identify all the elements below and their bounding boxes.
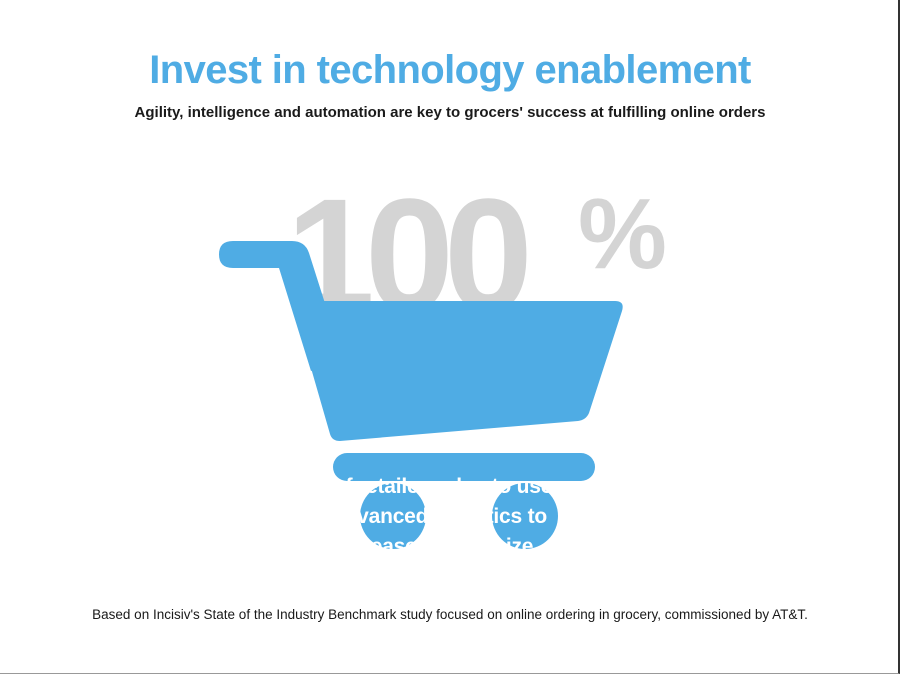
page-subtitle: Agility, intelligence and automation are…: [0, 104, 900, 123]
page-title: Invest in technology enablement: [0, 48, 900, 92]
graphic-stage: 100 % of retailers plan to use advanced …: [0, 150, 900, 570]
cart-basket: [294, 301, 623, 441]
stat-unit-text: %: [578, 178, 667, 290]
stat-description: of retailers plan to use advanced analyt…: [333, 472, 613, 561]
infographic-page: Invest in technology enablement Agility,…: [0, 0, 900, 674]
source-footnote: Based on Incisiv's State of the Industry…: [0, 607, 900, 622]
stat-description-line-2: advanced analytics to: [333, 502, 613, 532]
stat-description-line-3: increase basket-size.: [333, 532, 613, 562]
stat-description-line-1: of retailers plan to use: [333, 472, 613, 502]
